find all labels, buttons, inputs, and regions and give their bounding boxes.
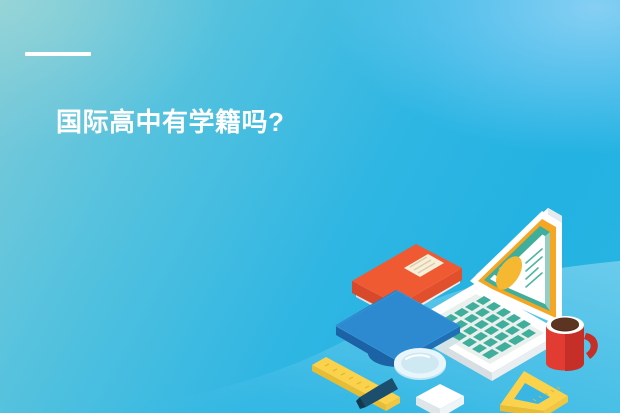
education-desk-illustration (300, 175, 620, 413)
banner: 国际高中有学籍吗? (0, 0, 620, 413)
title-divider (25, 52, 91, 56)
coffee-mug-icon (546, 316, 598, 371)
page-title: 国际高中有学籍吗? (56, 106, 284, 138)
eraser-icon (416, 384, 464, 413)
triangle-ruler-icon (496, 369, 570, 413)
